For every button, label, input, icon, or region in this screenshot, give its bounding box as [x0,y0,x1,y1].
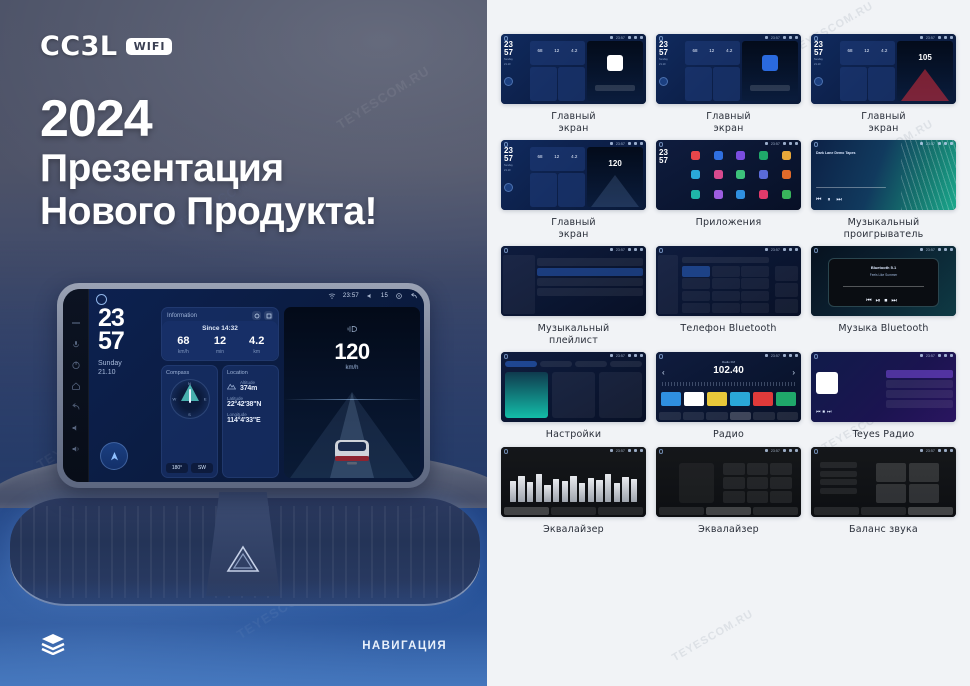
dialpad [682,266,769,313]
settings-icon[interactable] [395,292,403,300]
app-tile[interactable] [708,190,729,206]
settings-icon [634,354,637,357]
previous-icon[interactable]: ⏮ [816,197,821,204]
equalizer-slider[interactable] [518,476,524,501]
navigation-fab-button[interactable] [814,77,823,86]
information-card[interactable]: 68124.2 [530,41,586,65]
home-icon[interactable] [814,142,819,147]
hud-panel[interactable]: 105 [897,41,953,101]
home-icon[interactable] [504,248,509,253]
home-icon[interactable] [814,248,819,253]
fader-group[interactable] [679,463,714,503]
app-tile[interactable] [708,151,729,167]
caption-line: экран [551,229,596,241]
thumb-music-player[interactable]: Dark Lane Demo Tapes⏮⏸⏭23:57 [811,140,956,210]
app-label [708,179,729,181]
volume-icon [783,142,786,145]
back-icon [795,248,798,251]
thumb-settings[interactable]: 23:57 [501,352,646,422]
location-title: Location [227,370,274,376]
trip-info: Since 14:32 68 km/h 12 min [162,321,278,360]
headline-line-1: Презентация [40,147,377,191]
side-nav[interactable] [658,255,678,314]
preset-tile[interactable] [723,463,745,475]
layers-button[interactable] [40,633,66,660]
presentation-slide: TEYESCOM.RU TEYESCOM.RU TEYESCOM.RU TEYE… [0,0,970,686]
screen-caption: Баланс звука [849,524,918,536]
station-list [886,370,953,410]
wifi-icon [920,142,923,145]
app-label [731,160,752,162]
equalizer-slider[interactable] [596,480,602,502]
station-tile[interactable] [753,392,773,406]
screen-caption: Главныйэкран [551,217,596,240]
tuning-scale[interactable] [662,382,795,386]
gallery-cell: Radio FM102.40‹›23:57Радио [656,352,801,441]
next-station-icon[interactable]: › [792,368,795,377]
app-tile[interactable] [685,190,706,206]
equalizer-slider[interactable] [553,479,559,502]
equalizer-bands[interactable] [510,467,638,502]
gallery-cell: 23:57Настройки [501,352,646,441]
app-tile[interactable] [731,190,752,206]
transport-controls[interactable]: ⏮⏹⏭ [816,409,834,415]
home-icon[interactable] [814,36,819,41]
compass-card[interactable] [685,67,712,102]
navigation-fab-button[interactable] [504,77,513,86]
progress-bar[interactable] [816,187,886,189]
stat-value: 4.2 [238,336,275,347]
thumb-music-playlist[interactable]: 23:57 [501,246,646,316]
clock-column: 2357Sunday21.10 [504,147,528,207]
widgets-column: 68124.2 [840,41,896,101]
wifi-icon [610,36,613,39]
back-icon [950,36,953,39]
app-label [776,179,797,181]
location-card[interactable] [868,67,895,102]
track-title: Feels Like Summer [811,273,956,277]
head-unit: 23:57 15 23 57 Sunday 21.10 [63,289,424,482]
compass-direction: SW [191,463,213,473]
station-tile[interactable] [684,392,704,406]
toolbar-button[interactable] [504,507,549,515]
thumb-equalizer-bands[interactable]: 23:57 [501,447,646,517]
toolbar-button[interactable] [659,507,704,515]
location-card[interactable] [558,67,585,102]
equalizer-slider[interactable] [588,478,594,502]
dialpad-key[interactable] [741,278,769,289]
status-bar: 23:57 [920,354,953,358]
screen-home-icon[interactable] [96,294,107,305]
equalizer-slider[interactable] [536,474,542,502]
caption-line: Радио [713,429,744,441]
status-bar: 23:57 [610,36,643,40]
pause-icon[interactable]: ⏸ [827,197,830,204]
dialpad-key[interactable] [712,278,740,289]
app-icon [782,190,791,199]
headlight-icon [347,325,358,333]
equalizer-slider[interactable] [570,476,576,502]
tab-sound[interactable] [540,361,572,367]
thumb-home-screen-speed[interactable]: 2357Sunday21.1068124.212023:57 [501,140,646,210]
status-bar: 23:57 [920,142,953,146]
compass-readouts: 180° SW [166,463,213,473]
home-icon[interactable] [504,142,509,147]
home-icon[interactable] [659,354,664,359]
speaker-seat[interactable] [876,463,906,482]
volume-icon [628,142,631,145]
station-tile[interactable] [661,392,681,406]
status-bar: 23:57 [610,142,643,146]
preset-row[interactable] [820,479,858,485]
thumb-home-screen-music[interactable]: 2357Sunday21.1068124.223:57 [501,34,646,104]
gallery-cell: Dark Lane Demo Tapes⏮⏸⏭23:57Музыкальныйп… [811,140,956,240]
dialpad-key[interactable] [682,303,710,314]
toolbar-button[interactable] [683,412,705,420]
location-card[interactable] [558,173,585,208]
dashboard-lower-glow [0,580,487,686]
preset-row[interactable] [820,471,858,477]
wifi-icon [610,354,613,357]
home-icon[interactable] [659,248,664,253]
equalizer-slider[interactable] [579,483,585,501]
bottom-toolbar [814,507,953,515]
dialpad-key[interactable] [741,303,769,314]
home-icon[interactable] [504,449,509,454]
caption-line: Музыкальный [844,217,924,229]
back-icon [950,142,953,145]
headline-line-2: Нового Продукта! [40,190,377,234]
preset-tile[interactable] [723,477,745,489]
caption-line: Музыка Bluetooth [838,323,928,335]
location-card[interactable] [713,67,740,102]
list-item[interactable] [886,370,953,378]
volume-icon[interactable] [366,292,374,300]
caption-line: плейлист [538,335,610,347]
station-tile[interactable] [707,392,727,406]
app-tile[interactable] [776,151,797,167]
wifi-icon [610,248,613,251]
home-screen-preview: 2357Sunday21.1068124.2 [501,34,646,104]
caption-line: проигрыватель [844,229,924,241]
volume-icon [783,36,786,39]
widgets-column: 68124.2 [685,41,741,101]
next-icon[interactable]: ⏭ [836,197,841,204]
gallery-cell: 235723:57Приложения [656,140,801,240]
dialpad-key[interactable] [682,291,710,302]
status-volume: 15 [381,293,388,299]
about-card[interactable] [599,372,642,418]
album-art [816,372,838,394]
thumb-equalizer-presets[interactable]: 23:57 [656,447,801,517]
compass-card[interactable] [530,173,557,208]
information-card[interactable]: Information [161,307,279,361]
call-icon[interactable] [775,299,798,313]
clock-weekday: Sunday [814,58,838,61]
volume-down-icon[interactable] [71,423,81,433]
screen-caption: Музыкальныйпроигрыватель [844,217,924,240]
toolbar-button[interactable] [777,412,799,420]
app-tile[interactable] [753,151,774,167]
preset-tile[interactable] [770,477,792,489]
preset-tile[interactable] [770,491,792,503]
hud-panel[interactable] [587,41,643,101]
equalizer-slider[interactable] [544,485,550,502]
location-card[interactable]: Location Altitude 374m [222,365,279,478]
settings-icon [944,354,947,357]
home-icon[interactable] [659,142,664,147]
status-bar: 23:57 [765,36,798,40]
home-icon[interactable] [504,36,509,41]
app-icon [759,170,768,179]
information-card[interactable]: 68124.2 [530,147,586,171]
refresh-icon[interactable] [252,311,261,320]
toolbar-button[interactable] [814,507,859,515]
app-tile[interactable] [731,151,752,167]
transport-controls[interactable]: ⏮⏯⏹⏭ [811,298,956,305]
app-tile[interactable] [685,151,706,167]
equalizer-slider[interactable] [631,479,637,501]
trip-stat: 12 min [202,336,239,355]
toolbar-button[interactable] [706,412,728,420]
app-tile[interactable] [776,170,797,186]
speed-readout: 120 km/h [284,323,420,371]
list-item[interactable] [886,390,953,398]
back-icon [795,142,798,145]
side-nav[interactable] [503,255,535,314]
gallery-cell: 2357Sunday21.1068124.223:57Главныйэкран [656,34,801,134]
toolbar-button[interactable] [659,412,681,420]
status-clock: 23:57 [616,248,625,252]
wave-graphic [901,140,956,210]
favorite-icon[interactable] [775,266,798,280]
wifi-icon [765,36,768,39]
back-icon[interactable] [71,402,81,412]
list-item[interactable] [537,278,643,286]
head-unit-screen[interactable]: 23:57 15 23 57 Sunday 21.10 [89,289,424,482]
home-icon[interactable] [504,354,509,359]
preset-tile[interactable] [770,463,792,475]
album-art [762,55,778,71]
radio-frequency: 102.40 [656,365,801,376]
dialpad-key[interactable] [682,266,710,277]
tab-system[interactable] [610,361,642,367]
information-card[interactable]: 68124.2 [840,41,896,65]
back-icon [795,449,798,452]
thumb-teyes-radio[interactable]: ⏮⏹⏭23:57 [811,352,956,422]
information-actions [252,311,273,320]
app-label [776,199,797,201]
hud-panel[interactable] [742,41,798,101]
toolbar-button[interactable] [908,507,953,515]
clock-column: 2357Sunday21.10 [659,41,683,101]
app-tile[interactable] [685,170,706,186]
compass-card[interactable]: Compass N S E W [161,365,218,478]
compass-title: Compass [166,370,213,376]
tab-display[interactable] [575,361,607,367]
product-logo: CC3L WIFI [40,31,172,62]
settings-cards [505,372,642,418]
home-screen-body: 23 57 Sunday 21.10 [94,292,420,478]
dialpad-key[interactable] [712,303,740,314]
app-tile[interactable] [731,170,752,186]
toolbar-button[interactable] [753,412,775,420]
equalizer-slider[interactable] [510,481,516,502]
toolbar-button[interactable] [753,507,798,515]
back-icon [950,248,953,251]
bottom-toolbar [659,412,798,420]
status-clock: 23:57 [616,354,625,358]
navigation-fab-button[interactable] [100,442,128,470]
list-item[interactable] [537,258,643,266]
logo-text: CC3L [40,31,118,62]
minus-icon[interactable] [71,318,81,328]
navigation-fab-button[interactable] [659,77,668,86]
preset-row[interactable] [820,488,858,494]
dialpad-key[interactable] [712,291,740,302]
compass-dial: N S E W [170,379,210,419]
clock-date: 21.10 [504,169,528,172]
back-icon [795,354,798,357]
dialpad-key[interactable] [741,266,769,277]
app-label [708,160,729,162]
equalizer-slider[interactable] [614,483,620,502]
settings-icon [789,142,792,145]
head-unit-side-buttons [63,289,89,482]
clock-weekday: Sunday [94,359,156,368]
wifi-card[interactable] [505,372,548,418]
volume-icon [783,449,786,452]
volume-icon [938,354,941,357]
app-tile[interactable] [753,170,774,186]
list-item[interactable] [886,400,953,408]
thumb-bluetooth-music[interactable]: Bluetooth 5.1Feels Like Summer⏮⏯⏹⏭23:57 [811,246,956,316]
status-bar: 23:57 [920,449,953,453]
dialpad-key[interactable] [682,278,710,289]
dialpad-key[interactable] [712,266,740,277]
settings-icon [944,36,947,39]
bottom-toolbar [659,507,798,515]
equalizer-slider[interactable] [622,477,628,502]
compass-card[interactable] [530,67,557,102]
preset-tile[interactable] [723,491,745,503]
app-icon [782,170,791,179]
compass-card[interactable] [840,67,867,102]
status-clock: 23:57 [926,248,935,252]
list-item[interactable] [537,288,643,296]
home-icon[interactable] [659,36,664,41]
hud-panel[interactable]: 120 km/h [284,307,420,478]
app-tile[interactable] [708,170,729,186]
list-item[interactable] [537,268,643,276]
balance-pad[interactable] [876,463,938,503]
toolbar-button[interactable] [861,507,906,515]
preset-tile[interactable] [747,463,769,475]
speaker-seat[interactable] [909,484,939,503]
preset-list [820,462,858,496]
hud-speed: 120 [587,159,643,168]
home-icon[interactable] [814,449,819,454]
navigation-fab-button[interactable] [504,183,513,192]
tab-wifi[interactable] [505,361,537,367]
preset-tile[interactable] [747,477,769,489]
previous-station-icon[interactable]: ‹ [662,368,665,377]
gallery-cell: 23:57Эквалайзер [501,447,646,536]
status-clock: 23:57 [771,248,780,252]
compass-heading: 180° [166,463,188,473]
back-icon[interactable] [410,292,418,300]
bluetooth-version: Bluetooth 5.1 [811,265,956,270]
app-icon [714,190,723,199]
gallery-cell: Bluetooth 5.1Feels Like Summer⏮⏯⏹⏭23:57М… [811,246,956,346]
thumb-applications[interactable]: 235723:57 [656,140,801,210]
latitude-value: 22°42'38"N [227,401,274,408]
toolbar-button[interactable] [730,412,752,420]
toolbar-button[interactable] [598,507,643,515]
app-label [685,160,706,162]
volume-up-icon[interactable] [71,444,81,454]
volume-icon [628,248,631,251]
screens-gallery: 2357Sunday21.1068124.223:57Главныйэкран2… [501,34,956,536]
thumb-radio[interactable]: Radio FM102.40‹›23:57 [656,352,801,422]
home-icon[interactable] [659,449,664,454]
equalizer-slider[interactable] [527,482,533,501]
equalizer-slider[interactable] [562,481,568,501]
clock-column: 2357Sunday21.10 [504,41,528,101]
navigation-label: НАВИГАЦИЯ [362,640,447,652]
speaker-seat[interactable] [909,463,939,482]
dialpad-key[interactable] [741,291,769,302]
preset-row[interactable] [820,462,858,468]
preset-tile[interactable] [747,491,769,503]
list-item[interactable] [886,380,953,388]
caption-line: Приложения [696,217,762,229]
app-tile[interactable] [776,190,797,206]
settings-icon [789,449,792,452]
latitude-row: Latitude 22°42'38"N [227,396,274,408]
expand-icon[interactable] [264,311,273,320]
back-icon [950,354,953,357]
app-icon [759,151,768,160]
home-icon[interactable] [71,381,81,391]
equalizer-slider[interactable] [605,474,611,501]
progress-bar[interactable] [843,286,924,287]
information-card[interactable]: 68124.2 [685,41,741,65]
station-tile[interactable] [730,392,750,406]
thumb-sound-balance[interactable]: 23:57 [811,447,956,517]
clock-column: 23 57 Sunday 21.10 [94,307,156,478]
station-tile[interactable] [776,392,796,406]
speaker-seat[interactable] [876,484,906,503]
power-icon[interactable] [71,360,81,370]
mic-icon[interactable] [71,339,81,349]
app-tile[interactable] [753,190,774,206]
carplay-card[interactable] [552,372,595,418]
toolbar-button[interactable] [706,507,751,515]
screen-caption: Эквалайзер [698,524,759,536]
thumb-bluetooth-phone[interactable]: 23:57 [656,246,801,316]
status-clock: 23:57 [926,449,935,453]
toolbar-button[interactable] [551,507,596,515]
thumb-home-screen-hud[interactable]: 2357Sunday21.1068124.210523:57 [811,34,956,104]
sync-icon[interactable] [775,283,798,297]
hud-panel[interactable]: 120 [587,147,643,207]
thumb-home-screen-apps[interactable]: 2357Sunday21.1068124.223:57 [656,34,801,104]
wifi-icon [920,449,923,452]
widgets-column: 68124.2 [530,147,586,207]
home-icon[interactable] [814,354,819,359]
clock-column: 2357 [659,149,668,164]
